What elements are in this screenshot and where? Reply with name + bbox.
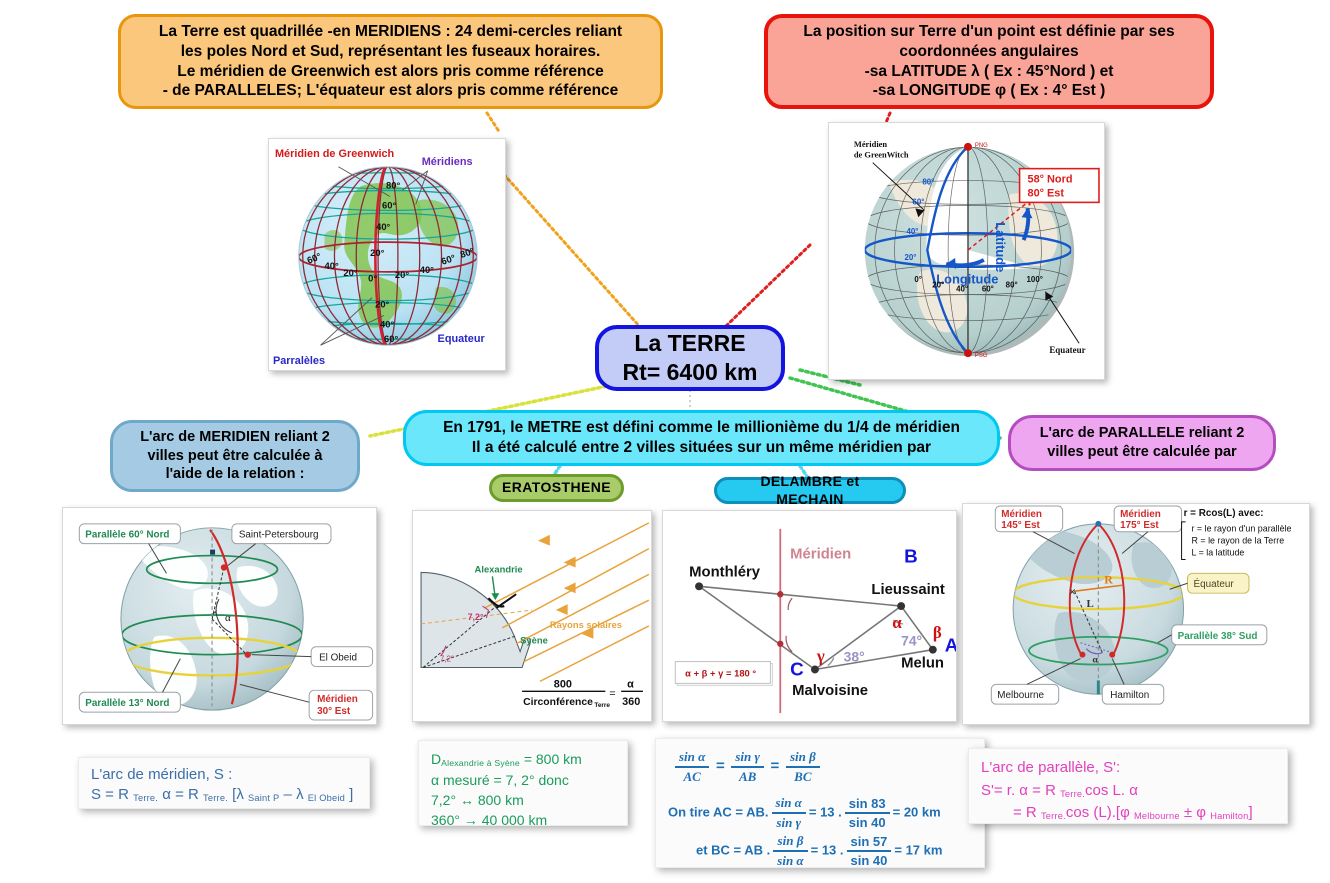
svg-text:α: α — [627, 678, 634, 690]
ac-eq: = 13 . — [809, 804, 842, 819]
erato-sub: Alexandrie à Syène — [441, 758, 520, 768]
erato-d: D — [431, 751, 441, 767]
svg-text:Terre: Terre — [594, 702, 610, 709]
svg-text:Méridien de Greenwich: Méridien de Greenwich — [275, 148, 394, 160]
svg-text:60°: 60° — [912, 197, 924, 206]
svg-text:80° Est: 80° Est — [1028, 187, 1065, 199]
pp3-lead: = R — [1013, 804, 1041, 821]
svg-text:Méridien: Méridien — [854, 139, 888, 149]
svg-text:20°: 20° — [375, 299, 389, 310]
los-t1-num: sin α — [675, 749, 709, 768]
fm-mid: = R — [175, 786, 203, 803]
svg-text:Équateur: Équateur — [1193, 579, 1234, 590]
delambre-label: DELAMBRE et MECHAIN — [729, 473, 891, 509]
svg-text:40°: 40° — [380, 318, 394, 329]
svg-text:800: 800 — [554, 678, 572, 690]
erato-line-2: α mesuré = 7, 2° donc — [431, 770, 615, 790]
svg-text:Latitude: Latitude — [993, 222, 1008, 272]
svg-text:20°: 20° — [932, 281, 944, 290]
svg-text:✕: ✕ — [212, 610, 218, 617]
note-parallele-line3: = R Terre.cos (L).[φ Melbourne ± φ Hamil… — [1013, 802, 1275, 825]
svg-text:=: = — [609, 688, 615, 700]
svg-text:Méridien: Méridien — [317, 694, 358, 705]
erato-line-4: 360° → 40 000 km — [431, 810, 615, 830]
svg-text:Equateur: Equateur — [1049, 345, 1085, 355]
svg-text:74°: 74° — [901, 633, 922, 649]
center-earth-box: La TERRE Rt= 6400 km — [595, 325, 785, 391]
svg-text:R: R — [1104, 572, 1113, 586]
note-arc-meridien: L'arc de méridien, S : S = R Terre. α = … — [78, 757, 370, 809]
svg-text:Méridien: Méridien — [1001, 509, 1042, 520]
svg-text:γ: γ — [816, 647, 825, 666]
svg-text:20°: 20° — [370, 247, 384, 258]
eratosthene-figure: 7,2° 7,2° Alexandrie Syène Rayons solair… — [412, 510, 652, 722]
pp-rest: cos L. α — [1085, 782, 1138, 799]
svg-text:0°: 0° — [914, 275, 922, 284]
meridiens-info-box: La Terre est quadrillée -en MERIDIENS : … — [118, 14, 663, 109]
svg-text:α: α — [892, 613, 902, 632]
position-line-1: La position sur Terre d'un point est déf… — [780, 22, 1198, 42]
pp3-sub3: Hamilton — [1210, 811, 1248, 821]
bc-f1-den: sin α — [773, 852, 807, 869]
metre-line-2: Il a été calculé entre 2 villes situées … — [418, 438, 985, 458]
svg-text:20°: 20° — [395, 269, 409, 280]
svg-text:C: C — [790, 658, 804, 679]
svg-text:PSG: PSG — [975, 353, 988, 359]
svg-text:r = le rayon d'un parallèle: r = le rayon d'un parallèle — [1191, 524, 1291, 534]
svg-text:80°: 80° — [1006, 281, 1018, 290]
los-t2-den: AB — [731, 768, 764, 785]
metre-definition-box: En 1791, le METRE est défini comme le mi… — [403, 410, 1000, 466]
svg-text:40°: 40° — [420, 264, 434, 275]
fm-bc: ] — [345, 786, 353, 803]
center-radius: Rt= 6400 km — [611, 358, 769, 387]
fm-alpha: α — [158, 786, 175, 803]
svg-text:Parralèles: Parralèles — [273, 355, 325, 367]
svg-text:Hamilton: Hamilton — [1110, 690, 1149, 701]
fm-sub2: Terre. — [203, 793, 228, 803]
svg-text:Alexandrie: Alexandrie — [475, 563, 523, 574]
position-line-3: -sa LATITUDE λ ( Ex : 45°Nord ) et — [780, 62, 1198, 82]
globe-coordinates-image: PNG PSG 58° Nord 80° Est Méridiende Gree… — [828, 122, 1105, 380]
arc-parallele-line-2: villes peut être calculée par — [1023, 443, 1261, 462]
arc-meridien-line-1: L'arc de MERIDIEN reliant 2 — [125, 428, 345, 447]
arc-parallele-box: L'arc de PARALLELE reliant 2 villes peut… — [1008, 415, 1276, 471]
eratosthene-pill[interactable]: ERATOSTHENE — [489, 474, 624, 502]
svg-text:A: A — [945, 635, 956, 656]
svg-text:Melun: Melun — [901, 656, 944, 672]
erato-line-1: DAlexandrie à Syène = 800 km — [431, 749, 615, 770]
svg-text:38°: 38° — [844, 649, 865, 665]
svg-text:R = le rayon de la Terre: R = le rayon de la Terre — [1191, 536, 1284, 546]
meridiens-line-3: Le méridien de Greenwich est alors pris … — [133, 62, 648, 82]
note-arc-parallele: L'arc de parallèle, S': S'= r. α = R Ter… — [968, 748, 1288, 824]
svg-text:80°: 80° — [386, 180, 400, 191]
ac-f2-den: sin 40 — [845, 814, 890, 830]
fm-sub3: Saint P — [248, 793, 279, 803]
position-line-4: -sa LONGITUDE φ ( Ex : 4° Est ) — [780, 81, 1198, 101]
note-delambre: sin αAC = sin γAB = sin βBC On tire AC =… — [655, 738, 985, 868]
svg-text:L: L — [1086, 598, 1093, 610]
svg-text:40°: 40° — [906, 227, 918, 236]
svg-text:B: B — [904, 546, 918, 567]
metre-line-1: En 1791, le METRE est défini comme le mi… — [418, 418, 985, 438]
los-t3-den: BC — [786, 768, 820, 785]
fm-sub1: Terre. — [133, 793, 158, 803]
arc-meridien-line-3: l'aide de la relation : — [125, 465, 345, 484]
svg-text:✕: ✕ — [1069, 587, 1076, 597]
ac-result: = 20 km — [893, 804, 941, 819]
fm-sub4: El Obeid — [308, 793, 345, 803]
svg-text:20°: 20° — [904, 253, 916, 262]
erato-line-3: 7,2° ↔ 800 km — [431, 790, 615, 810]
ac-f1-den: sin γ — [772, 814, 806, 831]
svg-text:El Obeid: El Obeid — [319, 653, 357, 664]
law-of-sines: sin αAC = sin γAB = sin βBC — [672, 749, 972, 785]
los-t2-num: sin γ — [731, 749, 764, 768]
svg-text:0°: 0° — [368, 273, 377, 284]
pp3-sub1: Terre. — [1041, 811, 1066, 821]
note-meridien-formula: S = R Terre. α = R Terre. [λ Saint P – λ… — [91, 786, 357, 803]
svg-text:Syène: Syène — [520, 635, 548, 646]
svg-text:Equateur: Equateur — [438, 333, 486, 345]
svg-text:α: α — [225, 612, 231, 624]
svg-text:Méridiens: Méridiens — [422, 156, 473, 168]
svg-text:PNG: PNG — [975, 143, 988, 149]
svg-text:L = la latitude: L = la latitude — [1191, 548, 1244, 558]
svg-text:Parallèle 13° Nord: Parallèle 13° Nord — [85, 698, 169, 709]
svg-text:α: α — [1092, 655, 1098, 666]
bc-f1-num: sin β — [773, 833, 807, 852]
svg-text:r = Rcos(L) avec:: r = Rcos(L) avec: — [1184, 508, 1264, 519]
delambre-mechain-pill[interactable]: DELAMBRE et MECHAIN — [714, 477, 906, 504]
delambre-ac-line: On tire AC = AB.sin αsin γ= 13 .sin 83si… — [668, 795, 972, 831]
svg-text:Parallèle 60° Nord: Parallèle 60° Nord — [85, 530, 169, 541]
arc-meridien-line-2: villes peut être calculée à — [125, 447, 345, 466]
position-info-box: La position sur Terre d'un point est déf… — [764, 14, 1214, 109]
svg-text:Parallèle 38° Sud: Parallèle 38° Sud — [1178, 631, 1258, 642]
svg-text:60°: 60° — [384, 333, 398, 344]
svg-text:Rayons solaires: Rayons solaires — [550, 619, 622, 630]
svg-text:7,2°: 7,2° — [440, 655, 454, 664]
pp-lead: S'= r. α = R — [981, 782, 1060, 799]
svg-text:60°: 60° — [382, 199, 396, 210]
position-line-2: coordonnées angulaires — [780, 42, 1198, 62]
fm-bo: [λ — [228, 786, 248, 803]
svg-text:de GreenWitch: de GreenWitch — [854, 150, 909, 160]
svg-text:Monthléry: Monthléry — [689, 564, 761, 580]
bc-result: = 17 km — [894, 842, 942, 857]
delambre-bc-line: et BC = AB .sin βsin α= 13 .sin 57sin 40… — [696, 833, 972, 869]
svg-text:360: 360 — [622, 696, 640, 708]
meridiens-line-2: les poles Nord et Sud, représentant les … — [133, 42, 648, 62]
note-parallele-line2: S'= r. α = R Terre.cos L. α — [981, 780, 1275, 803]
svg-text:175° Est: 175° Est — [1120, 520, 1159, 531]
svg-text:Méridien: Méridien — [790, 547, 851, 563]
center-title: La TERRE — [611, 329, 769, 358]
ac-f2-num: sin 83 — [845, 796, 890, 814]
globe-meridians-image: Méridien de Greenwich Méridiens Parralèl… — [268, 138, 506, 371]
svg-text:58° Nord: 58° Nord — [1028, 174, 1073, 186]
bc-f2-num: sin 57 — [847, 834, 892, 852]
ac-f1-num: sin α — [772, 795, 806, 814]
bc-lead: et BC = AB . — [696, 842, 770, 857]
fm-lead: S = R — [91, 786, 133, 803]
los-t3-num: sin β — [786, 749, 820, 768]
svg-text:80°: 80° — [922, 178, 934, 187]
delambre-triangulation-figure: Méridien Monthléry Lieussaint Melun Malv… — [662, 510, 957, 722]
los-t1-den: AC — [675, 768, 709, 785]
svg-text:Méridien: Méridien — [1120, 509, 1161, 520]
note-meridien-title: L'arc de méridien, S : — [91, 766, 357, 783]
erato-rest: = 800 km — [520, 751, 582, 767]
svg-text:Circonférence: Circonférence — [523, 697, 593, 708]
pp-sub1: Terre. — [1060, 789, 1085, 799]
svg-text:40°: 40° — [325, 260, 339, 271]
svg-text:60°: 60° — [982, 285, 994, 294]
svg-text:α + β + γ = 180 °: α + β + γ = 180 ° — [685, 667, 756, 678]
eratosthene-label: ERATOSTHENE — [502, 479, 611, 497]
svg-text:145° Est: 145° Est — [1001, 520, 1040, 531]
pp3-pm: ± φ — [1180, 804, 1210, 821]
arc-meridien-box: L'arc de MERIDIEN reliant 2 villes peut … — [110, 420, 360, 492]
globe-parallel-arc-image: ✕ R L α Méridien145° Est Méridien175° Es… — [962, 503, 1310, 725]
meridiens-line-1: La Terre est quadrillée -en MERIDIENS : … — [133, 22, 648, 42]
svg-text:β: β — [933, 623, 942, 642]
svg-text:30° Est: 30° Est — [317, 706, 351, 717]
svg-text:Malvoisine: Malvoisine — [792, 683, 868, 699]
globe-meridian-arc-image: ✕ α Parallèle 60° Nord Saint-Petersbourg… — [62, 507, 377, 725]
note-eratosthene: DAlexandrie à Syène = 800 km α mesuré = … — [418, 740, 628, 826]
svg-text:Melbourne: Melbourne — [997, 690, 1044, 701]
svg-text:40°: 40° — [376, 221, 390, 232]
pp3-mid: cos (L).[φ — [1066, 804, 1134, 821]
ac-lead: On tire AC = AB. — [668, 804, 769, 819]
svg-text:100°: 100° — [1027, 275, 1043, 284]
pp3-close: ] — [1248, 804, 1252, 821]
bc-eq: = 13 . — [811, 842, 844, 857]
svg-text:40°: 40° — [956, 285, 968, 294]
pp3-sub2: Melbourne — [1134, 811, 1180, 821]
meridiens-line-4: - de PARALLELES; L'équateur est alors pr… — [133, 81, 648, 101]
fm-minus: – λ — [279, 786, 307, 803]
svg-text:Saint-Petersbourg: Saint-Petersbourg — [239, 530, 319, 541]
svg-text:20°: 20° — [343, 267, 357, 278]
svg-text:Lieussaint: Lieussaint — [871, 582, 944, 598]
svg-text:7,2°: 7,2° — [468, 612, 484, 622]
bc-f2-den: sin 40 — [847, 852, 892, 868]
arc-parallele-line-1: L'arc de PARALLELE reliant 2 — [1023, 424, 1261, 443]
note-parallele-title: L'arc de parallèle, S': — [981, 757, 1275, 780]
